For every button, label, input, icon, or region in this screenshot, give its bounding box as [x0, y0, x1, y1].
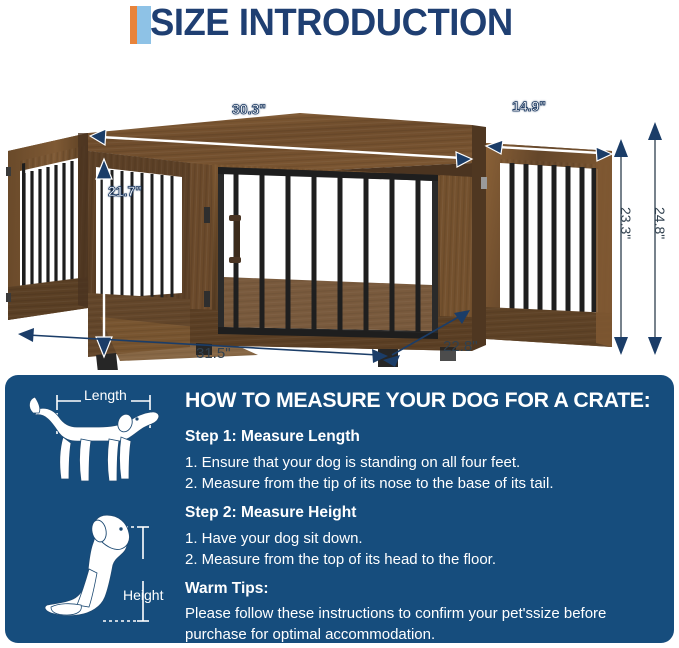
product-illustration: 30.3" 21.7" 14.9" 23.3" 24.8" 31.5" 22.8… [0, 55, 679, 370]
warm-tips-heading: Warm Tips: [185, 579, 269, 599]
dimension-label-left-door-height: 21.7" [108, 183, 142, 199]
crate-right-side [472, 125, 486, 351]
step-1-heading: Step 1: Measure Length [185, 427, 360, 447]
dimension-label-right-door-width: 14.9" [512, 98, 546, 114]
step-1-line-1: 1. Ensure that your dog is standing on a… [185, 452, 520, 473]
dimension-label-base-depth: 22.8" [443, 338, 478, 355]
dimension-label-body-height: 23.3" [618, 207, 634, 239]
dimension-label-overall-height: 24.8" [652, 207, 668, 239]
dimension-body-height [614, 139, 628, 355]
step-2-line-1: 1. Have your dog sit down. [185, 528, 363, 549]
dimension-label-top-width: 30.3" [232, 101, 266, 117]
dimension-label-base-width: 31.5" [196, 345, 231, 362]
infographic-root: SIZE INTRODUCTION [0, 0, 679, 648]
title-accent-blue-bar [137, 6, 151, 44]
left-open-door [6, 133, 88, 320]
measure-instructions-panel: Length Height HOW TO MEASURE YOUR DOG FO… [5, 375, 674, 643]
length-label: Length [84, 387, 127, 403]
right-open-door [481, 143, 612, 347]
step-2-heading: Step 2: Measure Height [185, 503, 356, 523]
crate-drawing [0, 55, 679, 370]
panel-heading: HOW TO MEASURE YOUR DOG FOR A CRATE: [185, 387, 664, 413]
page-title: SIZE INTRODUCTION [0, 2, 679, 48]
title-accent-orange-bar [130, 6, 137, 44]
step-2-line-2: 2. Measure from the top of its head to t… [185, 549, 496, 570]
crate-front [190, 163, 472, 351]
height-label: Height [123, 587, 163, 603]
step-1-line-2: 2. Measure from the tip of its nose to t… [185, 473, 554, 494]
crate-door [216, 167, 441, 339]
page-title-text: SIZE INTRODUCTION [150, 0, 513, 46]
warm-tips-body: Please follow these instructions to conf… [185, 603, 655, 645]
sitting-dog-diagram [33, 503, 183, 635]
